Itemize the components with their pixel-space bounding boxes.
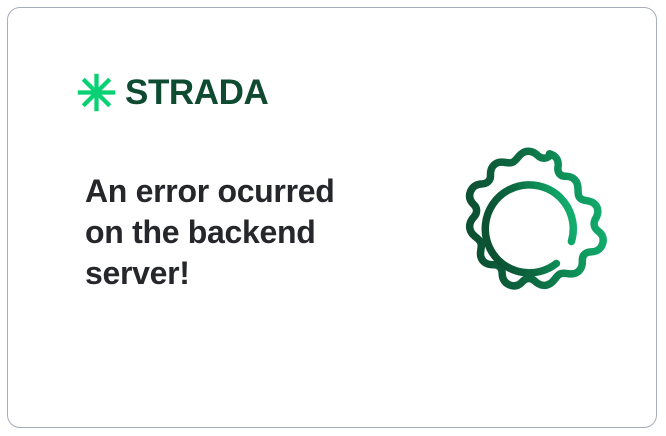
gear-cog-icon [445,142,617,314]
brand-wordmark: STRADA [125,75,268,110]
error-card: STRADA An error ocurred on the backend s… [7,7,657,428]
error-message: An error ocurred on the backend server! [85,171,385,294]
error-message-line-1: An error ocurred [85,171,385,212]
error-message-line-3: server! [85,253,385,294]
error-message-line-2: on the backend [85,212,385,253]
strada-asterisk-mark-icon [77,73,116,112]
brand-lockup: STRADA [77,73,268,112]
app-root: STRADA An error ocurred on the backend s… [0,0,666,436]
